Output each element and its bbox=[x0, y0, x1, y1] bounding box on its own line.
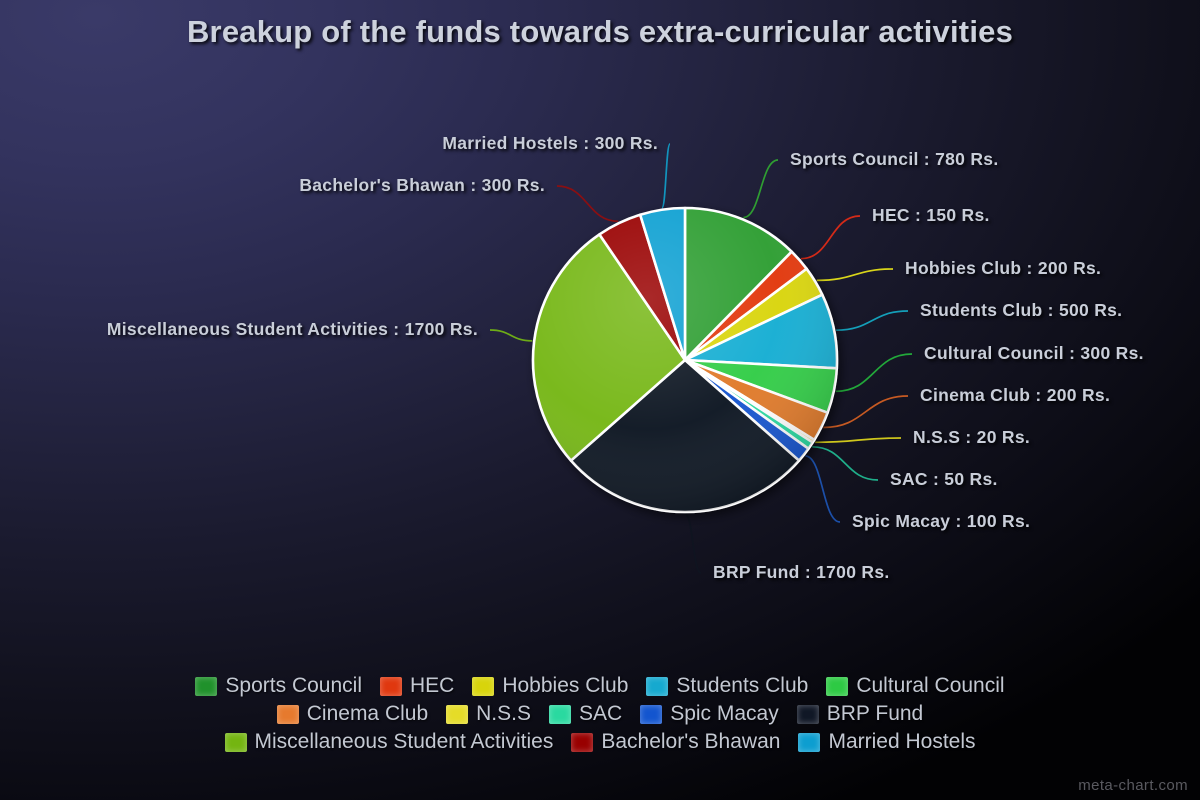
legend-color-swatch bbox=[195, 677, 217, 696]
legend-color-swatch bbox=[277, 705, 299, 724]
legend-color-swatch bbox=[446, 705, 468, 724]
legend-item-label: N.S.S bbox=[476, 702, 531, 726]
callout-label: Students Club : 500 Rs. bbox=[920, 300, 1122, 321]
callout-label: Hobbies Club : 200 Rs. bbox=[905, 258, 1101, 279]
legend-row: Miscellaneous Student ActivitiesBachelor… bbox=[0, 728, 1200, 756]
legend-color-swatch bbox=[571, 733, 593, 752]
legend-color-swatch bbox=[549, 705, 571, 724]
legend-color-swatch bbox=[826, 677, 848, 696]
chart-canvas: Breakup of the funds towards extra-curri… bbox=[0, 0, 1200, 800]
legend-item-label: Cinema Club bbox=[307, 702, 428, 726]
watermark: meta-chart.com bbox=[1078, 777, 1188, 794]
legend-color-swatch bbox=[646, 677, 668, 696]
legend-item-label: Spic Macay bbox=[670, 702, 779, 726]
callout-leader-line bbox=[836, 354, 912, 391]
callout-leader-line bbox=[662, 144, 670, 208]
callout-leader-line bbox=[490, 330, 532, 341]
callout-leader-line bbox=[801, 216, 860, 259]
callout-leader-line bbox=[557, 186, 618, 221]
legend-item[interactable]: HEC bbox=[380, 674, 454, 698]
legend-item[interactable]: Sports Council bbox=[195, 674, 362, 698]
legend-item-label: Sports Council bbox=[225, 674, 362, 698]
callout-leader-line bbox=[815, 438, 901, 442]
legend-color-swatch bbox=[380, 677, 402, 696]
callout-label: Married Hostels : 300 Rs. bbox=[0, 133, 658, 154]
legend-color-swatch bbox=[472, 677, 494, 696]
legend-item-label: Hobbies Club bbox=[502, 674, 628, 698]
callout-label: BRP Fund : 1700 Rs. bbox=[713, 562, 890, 583]
legend-color-swatch bbox=[225, 733, 247, 752]
legend-item-label: Bachelor's Bhawan bbox=[601, 730, 780, 754]
callout-leader-line bbox=[743, 160, 778, 218]
legend-row: Sports CouncilHECHobbies ClubStudents Cl… bbox=[0, 672, 1200, 700]
legend-item[interactable]: Students Club bbox=[646, 674, 808, 698]
legend-item[interactable]: Hobbies Club bbox=[472, 674, 628, 698]
legend-item-label: Cultural Council bbox=[856, 674, 1004, 698]
legend-color-swatch bbox=[798, 733, 820, 752]
callout-label: Miscellaneous Student Activities : 1700 … bbox=[0, 319, 478, 340]
legend-item[interactable]: Married Hostels bbox=[798, 730, 975, 754]
callout-label: Cinema Club : 200 Rs. bbox=[920, 385, 1110, 406]
legend-item[interactable]: SAC bbox=[549, 702, 622, 726]
callout-leader-line bbox=[817, 269, 893, 280]
callout-label: SAC : 50 Rs. bbox=[890, 469, 998, 490]
pie-slices bbox=[533, 208, 837, 512]
callout-label: Bachelor's Bhawan : 300 Rs. bbox=[0, 175, 545, 196]
legend-item[interactable]: N.S.S bbox=[446, 702, 531, 726]
legend-item-label: Married Hostels bbox=[828, 730, 975, 754]
legend-item-label: HEC bbox=[410, 674, 454, 698]
callout-label: Cultural Council : 300 Rs. bbox=[924, 343, 1144, 364]
callout-label: N.S.S : 20 Rs. bbox=[913, 427, 1030, 448]
legend-item-label: BRP Fund bbox=[827, 702, 924, 726]
callout-leader-line bbox=[685, 514, 701, 573]
callout-leader-line bbox=[836, 311, 908, 330]
legend-item[interactable]: Bachelor's Bhawan bbox=[571, 730, 780, 754]
legend-item[interactable]: Spic Macay bbox=[640, 702, 779, 726]
legend-item[interactable]: BRP Fund bbox=[797, 702, 924, 726]
callout-label: Sports Council : 780 Rs. bbox=[790, 149, 999, 170]
callout-leader-line bbox=[805, 456, 840, 522]
legend-item-label: Miscellaneous Student Activities bbox=[255, 730, 554, 754]
legend-row: Cinema ClubN.S.SSACSpic MacayBRP Fund bbox=[0, 700, 1200, 728]
legend-color-swatch bbox=[797, 705, 819, 724]
legend-item[interactable]: Miscellaneous Student Activities bbox=[225, 730, 554, 754]
legend-item[interactable]: Cinema Club bbox=[277, 702, 428, 726]
callout-label: HEC : 150 Rs. bbox=[872, 205, 990, 226]
callout-leader-line bbox=[812, 447, 878, 480]
callout-leader-line bbox=[823, 396, 908, 428]
legend-color-swatch bbox=[640, 705, 662, 724]
legend-item-label: SAC bbox=[579, 702, 622, 726]
callout-label: Spic Macay : 100 Rs. bbox=[852, 511, 1030, 532]
legend-item-label: Students Club bbox=[676, 674, 808, 698]
legend-item[interactable]: Cultural Council bbox=[826, 674, 1004, 698]
legend: Sports CouncilHECHobbies ClubStudents Cl… bbox=[0, 672, 1200, 756]
